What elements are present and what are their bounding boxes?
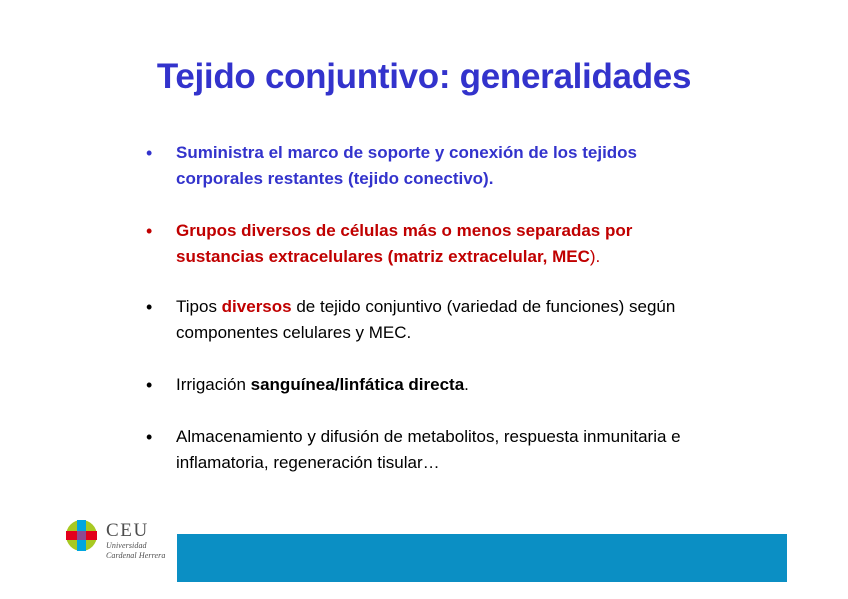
logo-wordmark: CEU Universidad Cardenal Herrera bbox=[106, 520, 165, 561]
list-item-text: Grupos diversos de células más o menos s… bbox=[176, 218, 713, 270]
presentation-slide: Tejido conjuntivo: generalidades • Sumin… bbox=[0, 0, 848, 599]
text-run: Grupos diversos de células más o menos s… bbox=[176, 221, 632, 266]
ceu-cross-circle-icon bbox=[66, 520, 97, 551]
text-run: Almacenamiento y difusión de metabolitos… bbox=[176, 427, 681, 472]
list-item: • Grupos diversos de células más o menos… bbox=[143, 218, 713, 270]
slide-footer: CEU Universidad Cardenal Herrera bbox=[0, 509, 848, 599]
list-item-text: Irrigación sanguínea/linfática directa. bbox=[176, 372, 713, 398]
bullet-point-icon: • bbox=[143, 424, 176, 450]
text-run-emphasis: sanguínea/linfática directa bbox=[251, 375, 465, 394]
bullet-list: • Suministra el marco de soporte y conex… bbox=[143, 140, 713, 476]
text-run: . bbox=[464, 375, 469, 394]
text-run: ). bbox=[590, 247, 600, 266]
list-item: • Irrigación sanguínea/linfática directa… bbox=[143, 372, 713, 398]
ceu-logo: CEU Universidad Cardenal Herrera bbox=[66, 520, 165, 561]
bullet-point-icon: • bbox=[143, 294, 176, 320]
footer-accent-bar bbox=[177, 534, 787, 582]
list-item: • Almacenamiento y difusión de metabolit… bbox=[143, 424, 713, 476]
list-item-text: Suministra el marco de soporte y conexió… bbox=[176, 140, 713, 192]
logo-center-square-shape bbox=[77, 531, 86, 540]
logo-subtitle-line-2: Cardenal Herrera bbox=[106, 551, 165, 561]
list-item: • Suministra el marco de soporte y conex… bbox=[143, 140, 713, 192]
bullet-point-icon: • bbox=[143, 140, 176, 166]
list-item-text: Tipos diversos de tejido conjuntivo (var… bbox=[176, 294, 713, 346]
page-title: Tejido conjuntivo: generalidades bbox=[0, 57, 848, 97]
list-item-text: Almacenamiento y difusión de metabolitos… bbox=[176, 424, 713, 476]
text-run: Tipos bbox=[176, 297, 222, 316]
text-run: Irrigación bbox=[176, 375, 251, 394]
bullet-point-icon: • bbox=[143, 218, 176, 244]
logo-subtitle-line-1: Universidad bbox=[106, 541, 165, 551]
text-run-emphasis: diversos bbox=[222, 297, 292, 316]
bullet-point-icon: • bbox=[143, 372, 176, 398]
list-item: • Tipos diversos de tejido conjuntivo (v… bbox=[143, 294, 713, 346]
logo-acronym: CEU bbox=[106, 521, 165, 541]
text-run: Suministra el marco de soporte y conexió… bbox=[176, 143, 637, 188]
